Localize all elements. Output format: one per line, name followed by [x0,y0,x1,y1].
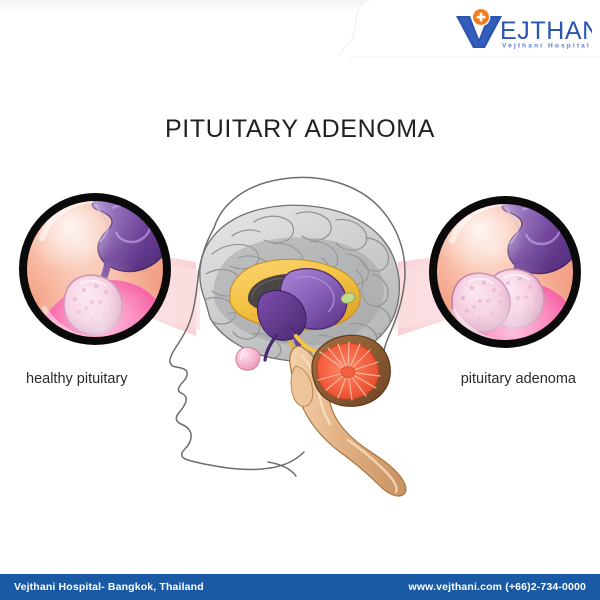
logo-tagline: Vejthani Hospital [502,43,591,50]
vejthani-logo: EJTHANI Vejthani Hospital [452,8,592,50]
inset-healthy-pituitary [19,193,171,350]
label-healthy-pituitary: healthy pituitary [26,371,128,387]
diagram-illustration [0,150,600,510]
footer-hospital-location: Vejthani Hospital- Bangkok, Thailand [14,581,204,593]
poster-canvas: EJTHANI Vejthani Hospital PITUITARY ADEN… [0,0,600,600]
footer-contact: www.vejthani.com (+66)2-734-0000 [409,581,586,593]
pituitary-gland [236,347,260,370]
footer-bar: Vejthani Hospital- Bangkok, Thailand www… [0,574,600,600]
page-title: PITUITARY ADENOMA [0,115,600,144]
inset-pituitary-adenoma [429,196,581,354]
label-pituitary-adenoma: pituitary adenoma [461,371,576,387]
logo-wordmark: EJTHANI [500,17,592,45]
medical-cross-icon [472,8,489,25]
cerebellum [312,335,390,406]
